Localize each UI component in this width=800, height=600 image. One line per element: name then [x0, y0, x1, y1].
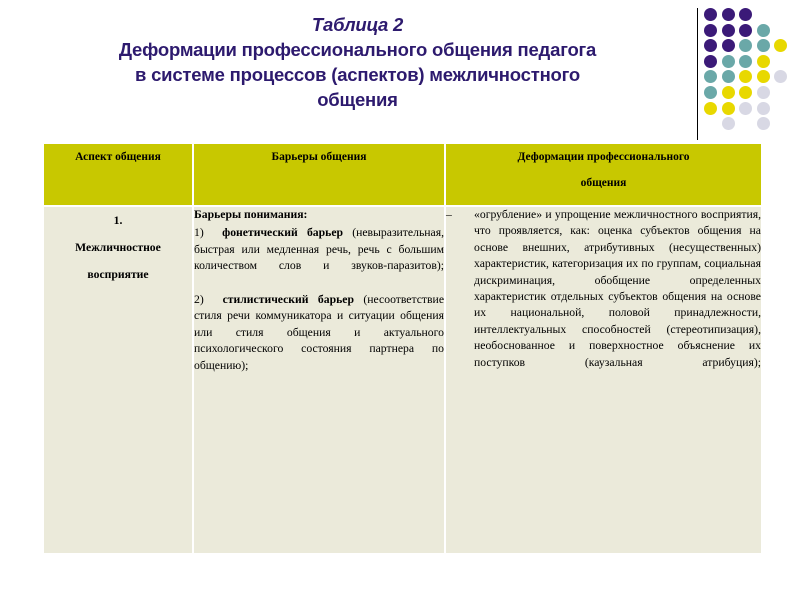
title-line-1: Деформации профессионального общения пед…: [30, 37, 685, 62]
table-header: Аспект общения Барьеры общения Деформаци…: [43, 143, 762, 206]
table-header-row: Аспект общения Барьеры общения Деформаци…: [43, 143, 762, 206]
column-header-deformations-line1: Деформации профессионального: [517, 151, 689, 163]
barriers-heading: Барьеры понимания:: [194, 207, 444, 223]
deformation-item: – «огрубление» и упрощение межличностног…: [446, 207, 761, 387]
dash-bullet-icon: –: [446, 207, 474, 223]
deco-dot: [722, 8, 735, 21]
deco-dot: [722, 55, 735, 68]
deco-dot: [739, 39, 752, 52]
deco-dot: [722, 102, 735, 115]
column-header-deformations: Деформации профессионального общения: [445, 143, 762, 206]
deco-dot: [757, 39, 770, 52]
barrier-marker-1: 1): [194, 226, 204, 239]
cell-deformations: – «огрубление» и упрощение межличностног…: [445, 206, 762, 554]
deco-dot: [704, 55, 717, 68]
deco-dot: [722, 39, 735, 52]
deco-dot: [704, 39, 717, 52]
deco-dot: [722, 117, 735, 130]
deco-dot: [739, 86, 752, 99]
barrier-term-2: стилистический барьер: [223, 293, 354, 306]
deco-dot: [739, 55, 752, 68]
aspect-label-line1: Межличностное: [44, 234, 192, 261]
column-header-deformations-line2: общения: [581, 177, 627, 189]
title-line-2: в системе процессов (аспектов) межличнос…: [30, 62, 685, 87]
barrier-item-2: 2) стилистический барьер (несоответствие…: [194, 292, 444, 390]
deformation-text: «огрубление» и упрощение межличностного …: [474, 207, 761, 387]
deco-dot: [739, 24, 752, 37]
title-line-table-number: Таблица 2: [30, 12, 685, 37]
cell-aspect: 1. Межличностное восприятие: [43, 206, 193, 554]
deco-dot: [739, 8, 752, 21]
deco-dot: [704, 86, 717, 99]
deco-dot: [757, 86, 770, 99]
deco-dot: [704, 102, 717, 115]
barrier-term-1: фонетический барьер: [222, 226, 343, 239]
slide-canvas: Таблица 2 Деформации профессионального о…: [0, 0, 800, 600]
deco-dot: [739, 102, 752, 115]
deco-dot: [774, 70, 787, 83]
column-header-barriers: Барьеры общения: [193, 143, 445, 206]
barrier-marker-2: 2): [194, 293, 204, 306]
table-row: 1. Межличностное восприятие Барьеры пони…: [43, 206, 762, 554]
cell-barriers: Барьеры понимания: 1) фонетический барье…: [193, 206, 445, 554]
dot-grid-decoration: [704, 8, 796, 134]
aspect-number: 1.: [44, 207, 192, 234]
deco-dot: [704, 70, 717, 83]
deco-dot: [722, 24, 735, 37]
table-body: 1. Межличностное восприятие Барьеры пони…: [43, 206, 762, 554]
deco-dot: [722, 86, 735, 99]
deformations-table: Аспект общения Барьеры общения Деформаци…: [42, 142, 763, 555]
deco-dot: [757, 24, 770, 37]
deco-dot: [757, 102, 770, 115]
aspect-label-line2: восприятие: [44, 261, 192, 288]
deco-dot: [757, 55, 770, 68]
deco-dot: [739, 70, 752, 83]
deco-dot: [757, 117, 770, 130]
deco-dot: [774, 39, 787, 52]
column-header-aspect: Аспект общения: [43, 143, 193, 206]
deco-dot: [722, 70, 735, 83]
deco-dot: [704, 8, 717, 21]
page-title: Таблица 2 Деформации профессионального о…: [30, 12, 685, 112]
deco-dot: [704, 24, 717, 37]
title-line-3: общения: [30, 87, 685, 112]
deco-dot: [757, 70, 770, 83]
vertical-rule-decoration: [697, 8, 698, 140]
barrier-item-1: 1) фонетический барьер (невыразительная,…: [194, 225, 444, 291]
